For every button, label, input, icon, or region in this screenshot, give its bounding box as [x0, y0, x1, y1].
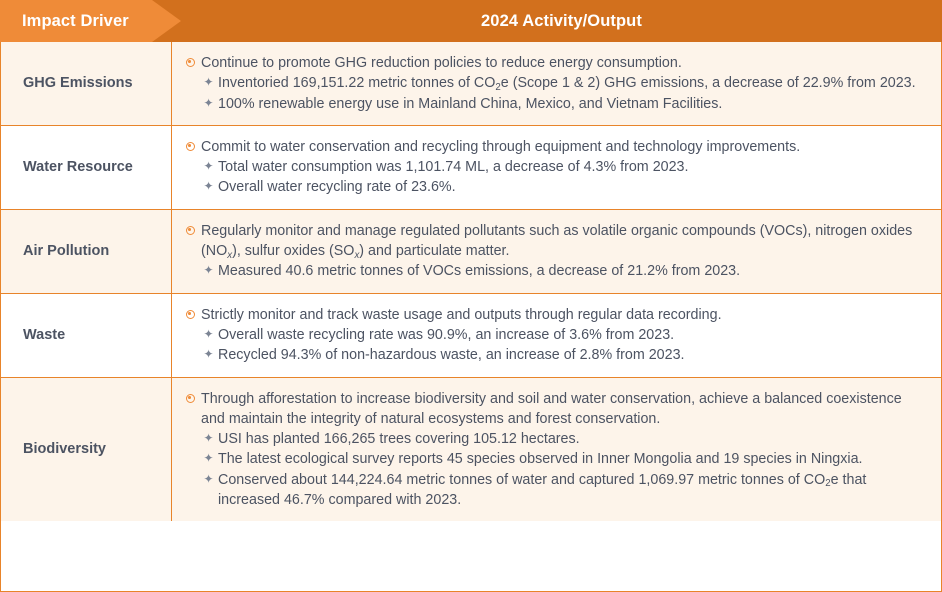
- impact-driver-cell: Biodiversity: [1, 378, 172, 522]
- impact-driver-label: Air Pollution: [23, 242, 109, 260]
- bullet-text: Inventoried 169,151.22 metric tonnes of …: [218, 73, 927, 93]
- impact-driver-cell: Air Pollution: [1, 210, 172, 293]
- four-point-star-bullet-icon: ✦: [203, 449, 214, 468]
- bullet-item: Continue to promote GHG reduction polici…: [186, 53, 927, 73]
- bullet-item: Strictly monitor and track waste usage a…: [186, 305, 927, 325]
- orange-ring-bullet-icon: [186, 58, 195, 67]
- table-body: GHG EmissionsContinue to promote GHG red…: [0, 42, 942, 592]
- activity-output-cell: Strictly monitor and track waste usage a…: [172, 294, 941, 377]
- bullet-text: USI has planted 166,265 trees covering 1…: [218, 429, 927, 449]
- sub-bullet-item: ✦Conserved about 144,224.64 metric tonne…: [203, 470, 927, 511]
- bullet-text: Measured 40.6 metric tonnes of VOCs emis…: [218, 261, 927, 281]
- impact-driver-cell: GHG Emissions: [1, 42, 172, 125]
- sub-bullet-item: ✦Overall waste recycling rate was 90.9%,…: [203, 325, 927, 345]
- four-point-star-bullet-icon: ✦: [203, 157, 214, 176]
- bullet-text: Overall water recycling rate of 23.6%.: [218, 177, 927, 197]
- bullet-text: Regularly monitor and manage regulated p…: [201, 221, 927, 262]
- bullet-text: Continue to promote GHG reduction polici…: [201, 53, 927, 73]
- sub-bullet-item: ✦The latest ecological survey reports 45…: [203, 449, 927, 469]
- impact-driver-table: Impact Driver 2024 Activity/Output GHG E…: [0, 0, 942, 592]
- bullet-text: Overall waste recycling rate was 90.9%, …: [218, 325, 927, 345]
- sub-bullet-item: ✦Inventoried 169,151.22 metric tonnes of…: [203, 73, 927, 93]
- impact-driver-label: GHG Emissions: [23, 74, 133, 92]
- sub-bullet-item: ✦Measured 40.6 metric tonnes of VOCs emi…: [203, 261, 927, 281]
- bullet-text: The latest ecological survey reports 45 …: [218, 449, 927, 469]
- table-header-row: Impact Driver 2024 Activity/Output: [0, 0, 942, 42]
- activity-output-cell: Commit to water conservation and recycli…: [172, 126, 941, 209]
- header-activity-output-label: 2024 Activity/Output: [181, 0, 942, 42]
- sub-bullet-item: ✦Overall water recycling rate of 23.6%.: [203, 177, 927, 197]
- sub-bullet-item: ✦USI has planted 166,265 trees covering …: [203, 429, 927, 449]
- bullet-text: Strictly monitor and track waste usage a…: [201, 305, 927, 325]
- table-row: Water ResourceCommit to water conservati…: [1, 126, 941, 210]
- orange-ring-bullet-icon: [186, 310, 195, 319]
- activity-output-cell: Regularly monitor and manage regulated p…: [172, 210, 941, 293]
- four-point-star-bullet-icon: ✦: [203, 94, 214, 113]
- bullet-text: Conserved about 144,224.64 metric tonnes…: [218, 470, 927, 511]
- four-point-star-bullet-icon: ✦: [203, 325, 214, 344]
- bullet-item: Regularly monitor and manage regulated p…: [186, 221, 927, 262]
- four-point-star-bullet-icon: ✦: [203, 261, 214, 280]
- impact-driver-label: Biodiversity: [23, 440, 106, 458]
- impact-driver-label: Waste: [23, 326, 65, 344]
- table-row: GHG EmissionsContinue to promote GHG red…: [1, 42, 941, 126]
- bullet-text: Recycled 94.3% of non-hazardous waste, a…: [218, 345, 927, 365]
- four-point-star-bullet-icon: ✦: [203, 429, 214, 448]
- bullet-item: Through afforestation to increase biodiv…: [186, 389, 927, 430]
- bullet-item: Commit to water conservation and recycli…: [186, 137, 927, 157]
- sub-bullet-item: ✦Recycled 94.3% of non-hazardous waste, …: [203, 345, 927, 365]
- header-impact-driver-label: Impact Driver: [22, 0, 129, 42]
- four-point-star-bullet-icon: ✦: [203, 345, 214, 364]
- impact-driver-cell: Waste: [1, 294, 172, 377]
- table-row: BiodiversityThrough afforestation to inc…: [1, 378, 941, 522]
- bullet-text: Through afforestation to increase biodiv…: [201, 389, 927, 430]
- activity-output-cell: Through afforestation to increase biodiv…: [172, 378, 941, 522]
- bullet-text: Commit to water conservation and recycli…: [201, 137, 927, 157]
- impact-driver-cell: Water Resource: [1, 126, 172, 209]
- sub-bullet-item: ✦100% renewable energy use in Mainland C…: [203, 94, 927, 114]
- four-point-star-bullet-icon: ✦: [203, 73, 214, 92]
- table-row: Air PollutionRegularly monitor and manag…: [1, 210, 941, 294]
- table-row: WasteStrictly monitor and track waste us…: [1, 294, 941, 378]
- orange-ring-bullet-icon: [186, 226, 195, 235]
- bullet-text: 100% renewable energy use in Mainland Ch…: [218, 94, 927, 114]
- sub-bullet-item: ✦Total water consumption was 1,101.74 ML…: [203, 157, 927, 177]
- four-point-star-bullet-icon: ✦: [203, 470, 214, 489]
- bullet-text: Total water consumption was 1,101.74 ML,…: [218, 157, 927, 177]
- impact-driver-label: Water Resource: [23, 158, 133, 176]
- activity-output-cell: Continue to promote GHG reduction polici…: [172, 42, 941, 125]
- orange-ring-bullet-icon: [186, 394, 195, 403]
- four-point-star-bullet-icon: ✦: [203, 177, 214, 196]
- orange-ring-bullet-icon: [186, 142, 195, 151]
